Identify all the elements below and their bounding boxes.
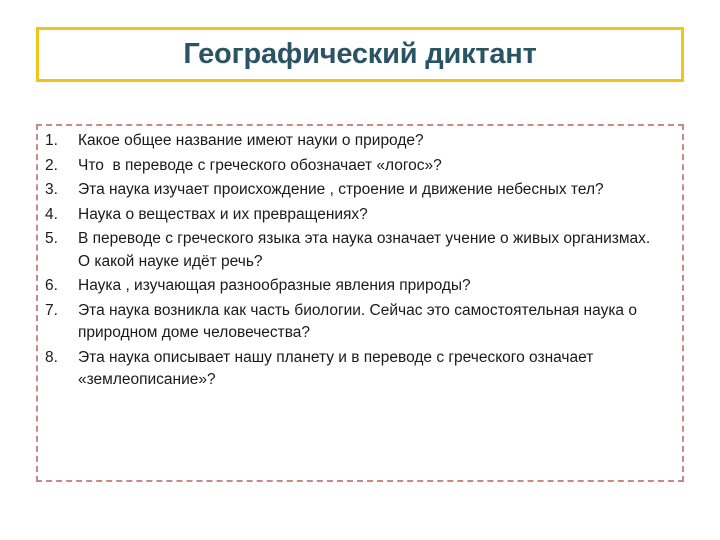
title-box: Географический диктант <box>36 27 684 82</box>
list-item-number: 8. <box>38 347 78 370</box>
list-item-text: Эта наука описывает нашу планету и в пер… <box>78 347 672 392</box>
list-item-text: Эта наука изучает происхождение , строен… <box>78 179 672 202</box>
list-item-text: Эта наука возникла как часть биологии. С… <box>78 300 672 345</box>
list-item-number: 2. <box>38 155 78 178</box>
slide-canvas: Географический диктант 1. Какое общее на… <box>0 0 720 540</box>
questions-container: 1. Какое общее название имеют науки о пр… <box>36 124 684 482</box>
list-item-number: 6. <box>38 275 78 298</box>
list-item: 5. В переводе с греческого языка эта нау… <box>38 228 672 273</box>
list-item: 4. Наука о веществах и их превращениях? <box>38 204 672 227</box>
list-item-text: В переводе с греческого языка эта наука … <box>78 228 672 273</box>
list-item-text: Какое общее название имеют науки о приро… <box>78 130 672 153</box>
list-item-text: Что в переводе с греческого обозначает «… <box>78 155 672 178</box>
list-item-number: 4. <box>38 204 78 227</box>
list-item-number: 5. <box>38 228 78 251</box>
list-item: 8. Эта наука описывает нашу планету и в … <box>38 347 672 392</box>
list-item: 3. Эта наука изучает происхождение , стр… <box>38 179 672 202</box>
page-title: Географический диктант <box>183 39 536 71</box>
list-item: 2. Что в переводе с греческого обозначае… <box>38 155 672 178</box>
list-item: 6. Наука , изучающая разнообразные явлен… <box>38 275 672 298</box>
list-item: 1. Какое общее название имеют науки о пр… <box>38 130 672 153</box>
list-item-number: 7. <box>38 300 78 323</box>
list-item-text: Наука о веществах и их превращениях? <box>78 204 672 227</box>
questions-list: 1. Какое общее название имеют науки о пр… <box>38 130 672 392</box>
list-item-number: 1. <box>38 130 78 153</box>
list-item-text: Наука , изучающая разнообразные явления … <box>78 275 672 298</box>
list-item-number: 3. <box>38 179 78 202</box>
list-item: 7. Эта наука возникла как часть биологии… <box>38 300 672 345</box>
